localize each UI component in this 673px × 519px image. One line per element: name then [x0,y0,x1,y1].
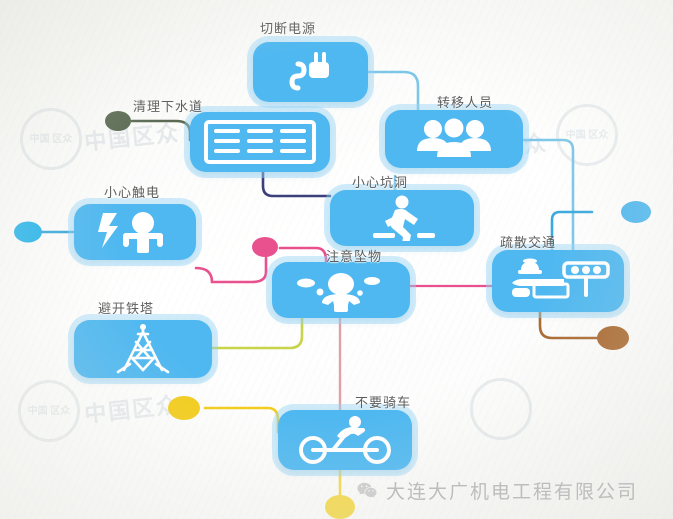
sewer-grate-icon [204,120,316,164]
node-card-power[interactable] [253,42,368,102]
label-people: 转移人员 [437,92,493,111]
node-card-traffic[interactable] [492,250,624,312]
falling-endpoint-dot[interactable] [252,237,278,257]
node-card-sewer[interactable] [190,112,330,172]
falling-object-icon [286,267,396,313]
link-sewerdot-sewer [132,121,190,140]
label-pothole: 小心坑洞 [352,172,408,191]
traffic-police-icon [504,257,612,305]
footer-watermark: 大连大广机电工程有限公司 [356,477,638,504]
node-card-people[interactable] [385,110,523,168]
label-power: 切断电源 [260,18,316,37]
label-sewer: 清理下水道 [133,96,203,115]
label-traffic: 疏散交通 [500,232,556,251]
node-card-bike[interactable] [278,410,412,470]
bottom-endpoint-dot[interactable] [325,495,355,519]
electric-shock-icon [87,209,183,255]
node-card-tower[interactable] [74,320,212,378]
link-tower-falling [212,316,302,348]
link-traffic-browndot [540,312,598,338]
shock-endpoint-dot[interactable] [14,222,42,243]
group-people-icon [409,117,499,161]
power-plug-icon [285,50,337,94]
link-yellowdot-bike [205,408,278,432]
yellow-endpoint-dot[interactable] [168,396,200,420]
transmission-tower-icon [108,324,178,374]
brown-endpoint-dot[interactable] [597,326,629,350]
link-sewer-pothole [263,172,330,196]
label-falling: 注意坠物 [326,246,382,265]
node-card-pothole[interactable] [330,190,474,246]
link-shock-falling [196,258,266,282]
node-card-falling[interactable] [272,262,410,318]
wechat-icon [356,480,378,502]
label-tower: 避开铁塔 [98,298,154,317]
bicycle-icon [293,416,397,464]
infographic-canvas: 中国 区众 中国区众 中国区众 中国 区众 中国 区众 中国区众 [0,0,673,519]
label-bike: 不要骑车 [355,392,411,411]
footer-company-name: 大连大广机电工程有限公司 [386,477,638,504]
label-shock: 小心触电 [104,182,160,201]
running-person-icon [359,195,445,241]
node-card-shock[interactable] [74,204,196,260]
traffic-endpoint-dot[interactable] [621,201,651,223]
sewer-endpoint-dot[interactable] [105,111,131,131]
